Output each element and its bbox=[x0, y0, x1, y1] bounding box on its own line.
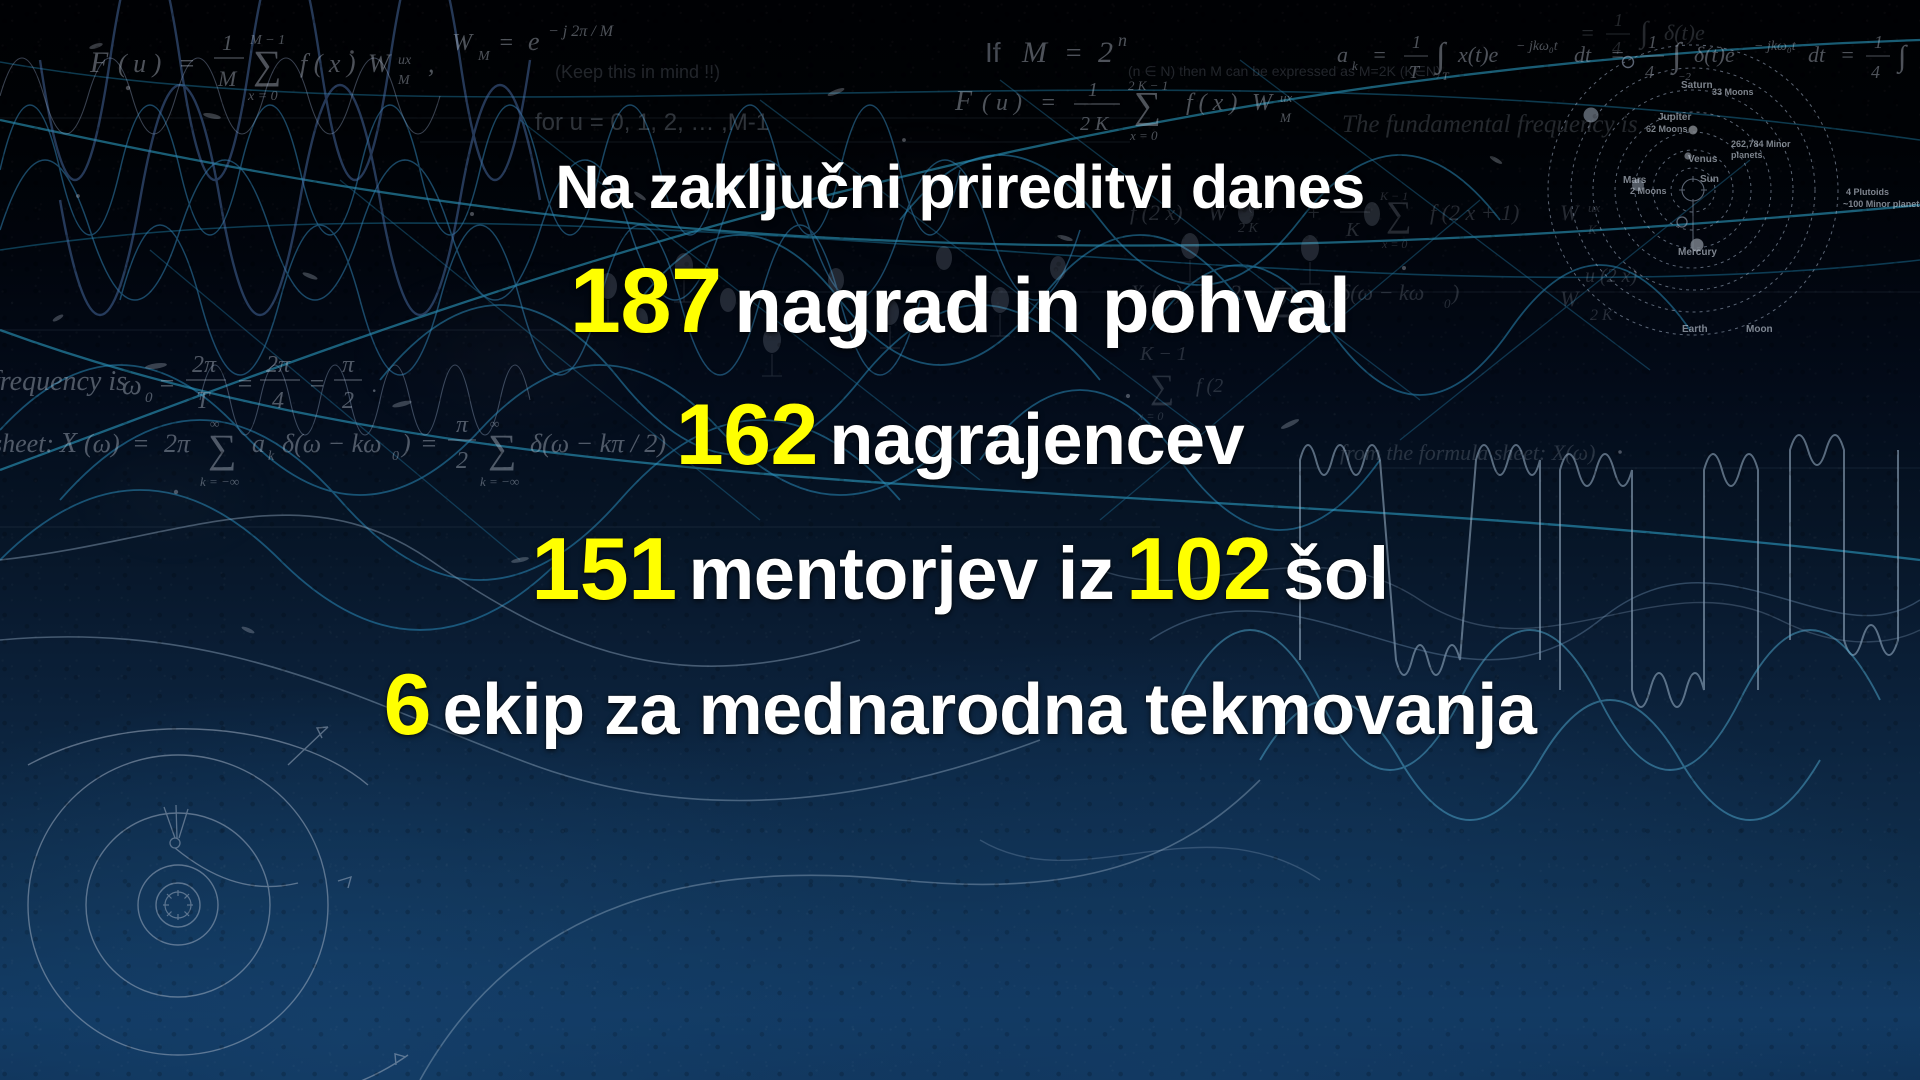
stat-label-teams: ekip za mednarodna tekmovanja bbox=[442, 670, 1536, 750]
stat-number-winners: 162 bbox=[676, 387, 818, 483]
stat-line-teams: 6ekip za mednarodna tekmovanja bbox=[0, 662, 1920, 748]
stat-line-winners: 162nagrajencev bbox=[0, 392, 1920, 478]
stat-number-schools: 102 bbox=[1126, 519, 1271, 618]
stat-number-teams: 6 bbox=[384, 657, 431, 753]
stat-line-awards: 187nagrad in pohval bbox=[0, 255, 1920, 347]
slide-content: Na zaključni prireditvi danes 187nagrad … bbox=[0, 0, 1920, 1080]
stat-number-mentors: 151 bbox=[531, 519, 676, 618]
stat-number-awards: 187 bbox=[570, 250, 722, 352]
stat-label-schools: šol bbox=[1283, 532, 1388, 615]
stat-label-winners: nagrajencev bbox=[829, 400, 1244, 480]
presentation-slide: Sun Mercury Earth Moon Venus Mars 2 Moon… bbox=[0, 0, 1920, 1080]
slide-heading: Na zaključni prireditvi danes bbox=[0, 157, 1920, 218]
stat-line-mentors: 151mentorjev iz102šol bbox=[0, 525, 1920, 613]
stat-label-awards: nagrad in pohval bbox=[734, 261, 1350, 349]
stat-label-mentors: mentorjev iz bbox=[688, 532, 1114, 615]
